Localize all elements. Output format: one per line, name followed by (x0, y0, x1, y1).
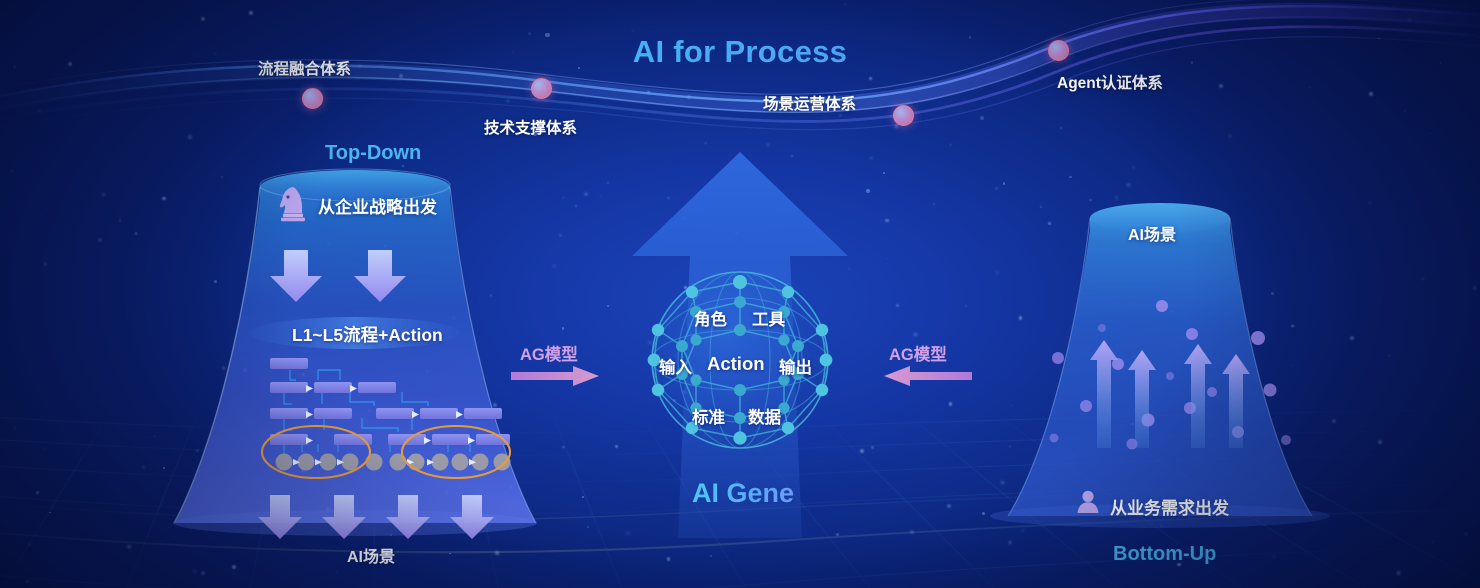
left-funnel-heading: Top-Down (325, 142, 421, 165)
right-funnel-top-label: AI场景 (1128, 221, 1176, 245)
sphere-label-output: 输出 (779, 354, 812, 378)
person-icon (1075, 489, 1101, 515)
ag-model-label-left: AG模型 (520, 341, 578, 365)
sphere-label-input: 输入 (659, 354, 692, 378)
wave-ribbons (0, 0, 1480, 170)
ag-model-label-right: AG模型 (889, 341, 947, 365)
right-funnel-bottom-label: 从业务需求出发 (1110, 494, 1229, 519)
right-funnel-particles (1040, 280, 1300, 480)
left-funnel-top-label: 从企业战略出发 (318, 193, 437, 218)
highlight-ellipse-right (400, 424, 512, 480)
wave-node-label-1: 技术支撑体系 (484, 116, 577, 138)
wave-node-dot-0 (302, 88, 323, 109)
sphere-label-standard: 标准 (692, 404, 725, 428)
left-funnel-shape (140, 165, 570, 565)
right-funnel-heading: Bottom-Up (1113, 543, 1216, 566)
ai-gene-title: AI Gene (692, 478, 794, 509)
ag-arrow-left (884, 366, 972, 386)
sphere-label-tool: 工具 (752, 306, 785, 330)
left-funnel-bottom-label: AI场景 (347, 543, 395, 567)
process-tree-diagram (262, 352, 524, 474)
left-down-arrows-bottom (258, 495, 518, 543)
sphere-label-role: 角色 (694, 306, 727, 330)
wave-node-label-3: Agent认证体系 (1057, 71, 1163, 93)
infographic-canvas: 流程融合体系技术支撑体系场景运营体系Agent认证体系 AI for Proce… (0, 0, 1480, 588)
page-title: AI for Process (0, 34, 1480, 70)
wave-node-dot-1 (531, 78, 552, 99)
sphere-label-action: Action (707, 353, 765, 375)
highlight-ellipse-left (260, 424, 372, 480)
chess-knight-icon (278, 184, 308, 222)
wave-node-label-2: 场景运营体系 (763, 92, 856, 114)
sphere-label-data: 数据 (748, 404, 781, 428)
wave-node-dot-2 (893, 105, 914, 126)
right-up-arrows (1090, 340, 1250, 450)
ag-arrow-right (511, 366, 599, 386)
left-down-arrows-top (270, 250, 420, 306)
left-funnel-band-label: L1~L5流程+Action (292, 322, 443, 347)
